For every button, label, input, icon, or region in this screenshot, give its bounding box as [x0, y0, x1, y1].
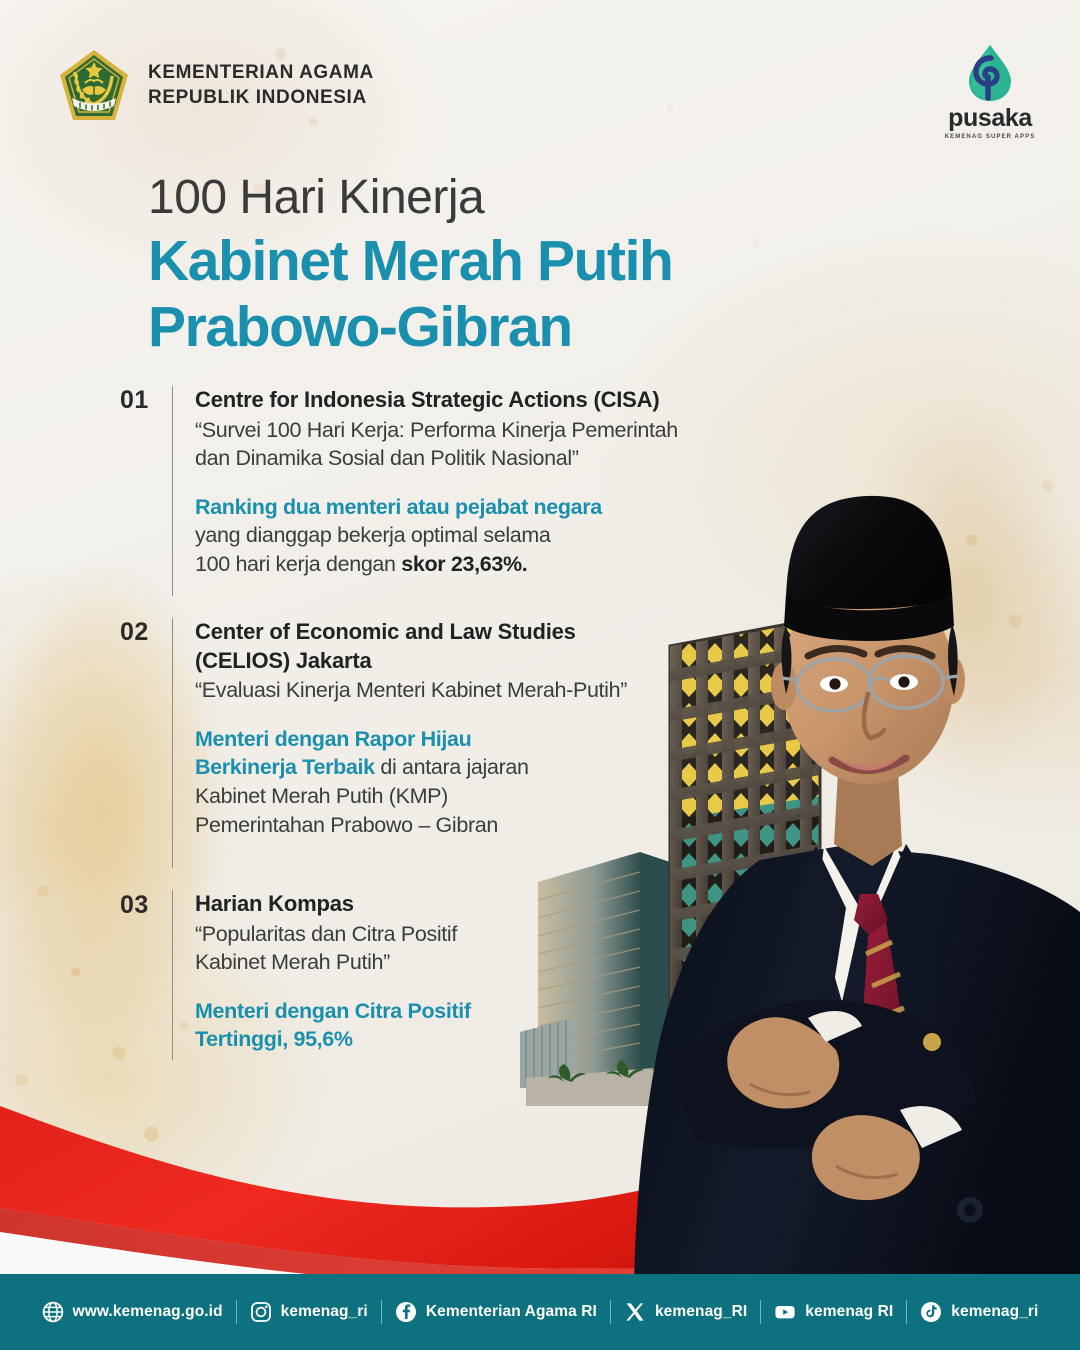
item-divider [172, 618, 173, 868]
footer-link-label: kemenag_ri [281, 1303, 368, 1321]
item-divider [172, 386, 173, 596]
item-highlight-plain2: Kabinet Merah Putih (KMP) [195, 782, 800, 811]
item-highlight-row: Berkinerja Terbaik di antara jajaran [195, 753, 800, 782]
item-highlight-score: skor 23,63%. [401, 552, 527, 576]
item-title: Harian Kompas [195, 890, 800, 919]
title-line2: Prabowo-Gibran [148, 294, 672, 360]
kemenag-crest-icon [58, 48, 130, 124]
item-highlight-accent2: Tertinggi, 95,6% [195, 1025, 800, 1054]
item-number: 01 [120, 386, 172, 596]
item-highlight-accent: Ranking dua menteri atau pejabat negara [195, 493, 800, 522]
x-twitter-icon [624, 1301, 646, 1323]
survey-results-list: 01 Centre for Indonesia Strategic Action… [120, 386, 800, 1082]
item-highlight-accent1: Menteri dengan Citra Positif [195, 997, 800, 1026]
item-highlight-accent1: Menteri dengan Rapor Hijau [195, 725, 800, 754]
item-highlight-plain3: Pemerintahan Prabowo – Gibran [195, 811, 800, 840]
footer-link-website[interactable]: www.kemenag.go.id [29, 1301, 236, 1323]
youtube-icon [774, 1301, 796, 1323]
item-highlight-plain1: yang dianggap bekerja optimal selama [195, 521, 800, 550]
footer-link-instagram[interactable]: kemenag_ri [237, 1301, 381, 1323]
item-divider [172, 890, 173, 1060]
title-kicker: 100 Hari Kinerja [148, 172, 672, 224]
item-quote-line2: Kabinet Merah Putih” [195, 948, 800, 977]
item-quote-line1: “Survei 100 Hari Kerja: Performa Kinerja… [195, 416, 800, 445]
item-number: 03 [120, 890, 172, 1060]
header-branding: KEMENTERIAN AGAMA REPUBLIK INDONESIA [58, 48, 374, 124]
social-footer-bar: www.kemenag.go.id kemenag_ri Kementerian… [0, 1274, 1080, 1350]
header-title-line1: KEMENTERIAN AGAMA [148, 61, 374, 86]
list-item: 03 Harian Kompas “Popularitas dan Citra … [120, 890, 800, 1060]
pusaka-tagline: KEMENAG SUPER APPS [942, 134, 1038, 140]
item-highlight-accent2: Berkinerja Terbaik [195, 755, 375, 779]
item-title: Centre for Indonesia Strategic Actions (… [195, 386, 800, 415]
footer-link-facebook[interactable]: Kementerian Agama RI [382, 1301, 610, 1323]
footer-link-label: kemenag RI [805, 1303, 893, 1321]
footer-link-youtube[interactable]: kemenag RI [761, 1301, 906, 1323]
header-title: KEMENTERIAN AGAMA REPUBLIK INDONESIA [148, 61, 374, 110]
list-item: 01 Centre for Indonesia Strategic Action… [120, 386, 800, 596]
list-item: 02 Center of Economic and Law Studies (C… [120, 618, 800, 868]
pusaka-wordmark: pusaka [942, 106, 1038, 131]
item-quote-line1: “Evaluasi Kinerja Menteri Kabinet Merah-… [195, 676, 800, 705]
footer-link-tiktok[interactable]: kemenag_ri [907, 1301, 1051, 1323]
footer-link-x-twitter[interactable]: kemenag_RI [611, 1301, 760, 1323]
footer-link-label: kemenag_RI [655, 1303, 747, 1321]
infographic-canvas: KEMENTERIAN AGAMA REPUBLIK INDONESIA pus… [0, 0, 1080, 1350]
item-number: 02 [120, 618, 172, 868]
title-line1: Kabinet Merah Putih [148, 228, 672, 294]
header-title-line2: REPUBLIK INDONESIA [148, 86, 374, 111]
tiktok-icon [920, 1301, 942, 1323]
pusaka-droplet-icon [961, 42, 1019, 104]
page-title: 100 Hari Kinerja Kabinet Merah Putih Pra… [148, 172, 672, 360]
instagram-icon [250, 1301, 272, 1323]
item-highlight-plain2: 100 hari kerja dengan [195, 552, 401, 576]
item-highlight-row: 100 hari kerja dengan skor 23,63%. [195, 550, 800, 579]
footer-link-label: Kementerian Agama RI [426, 1303, 597, 1321]
item-title-line1: Center of Economic and Law Studies [195, 618, 800, 647]
globe-icon [42, 1301, 64, 1323]
item-title-line2: (CELIOS) Jakarta [195, 647, 800, 676]
item-highlight-plain1: di antara jajaran [375, 755, 529, 779]
item-quote-line2: dan Dinamika Sosial dan Politik Nasional… [195, 444, 800, 473]
facebook-icon [395, 1301, 417, 1323]
footer-link-label: kemenag_ri [951, 1303, 1038, 1321]
footer-link-label: www.kemenag.go.id [73, 1303, 223, 1321]
item-quote-line1: “Popularitas dan Citra Positif [195, 920, 800, 949]
pusaka-logo: pusaka KEMENAG SUPER APPS [942, 42, 1038, 140]
